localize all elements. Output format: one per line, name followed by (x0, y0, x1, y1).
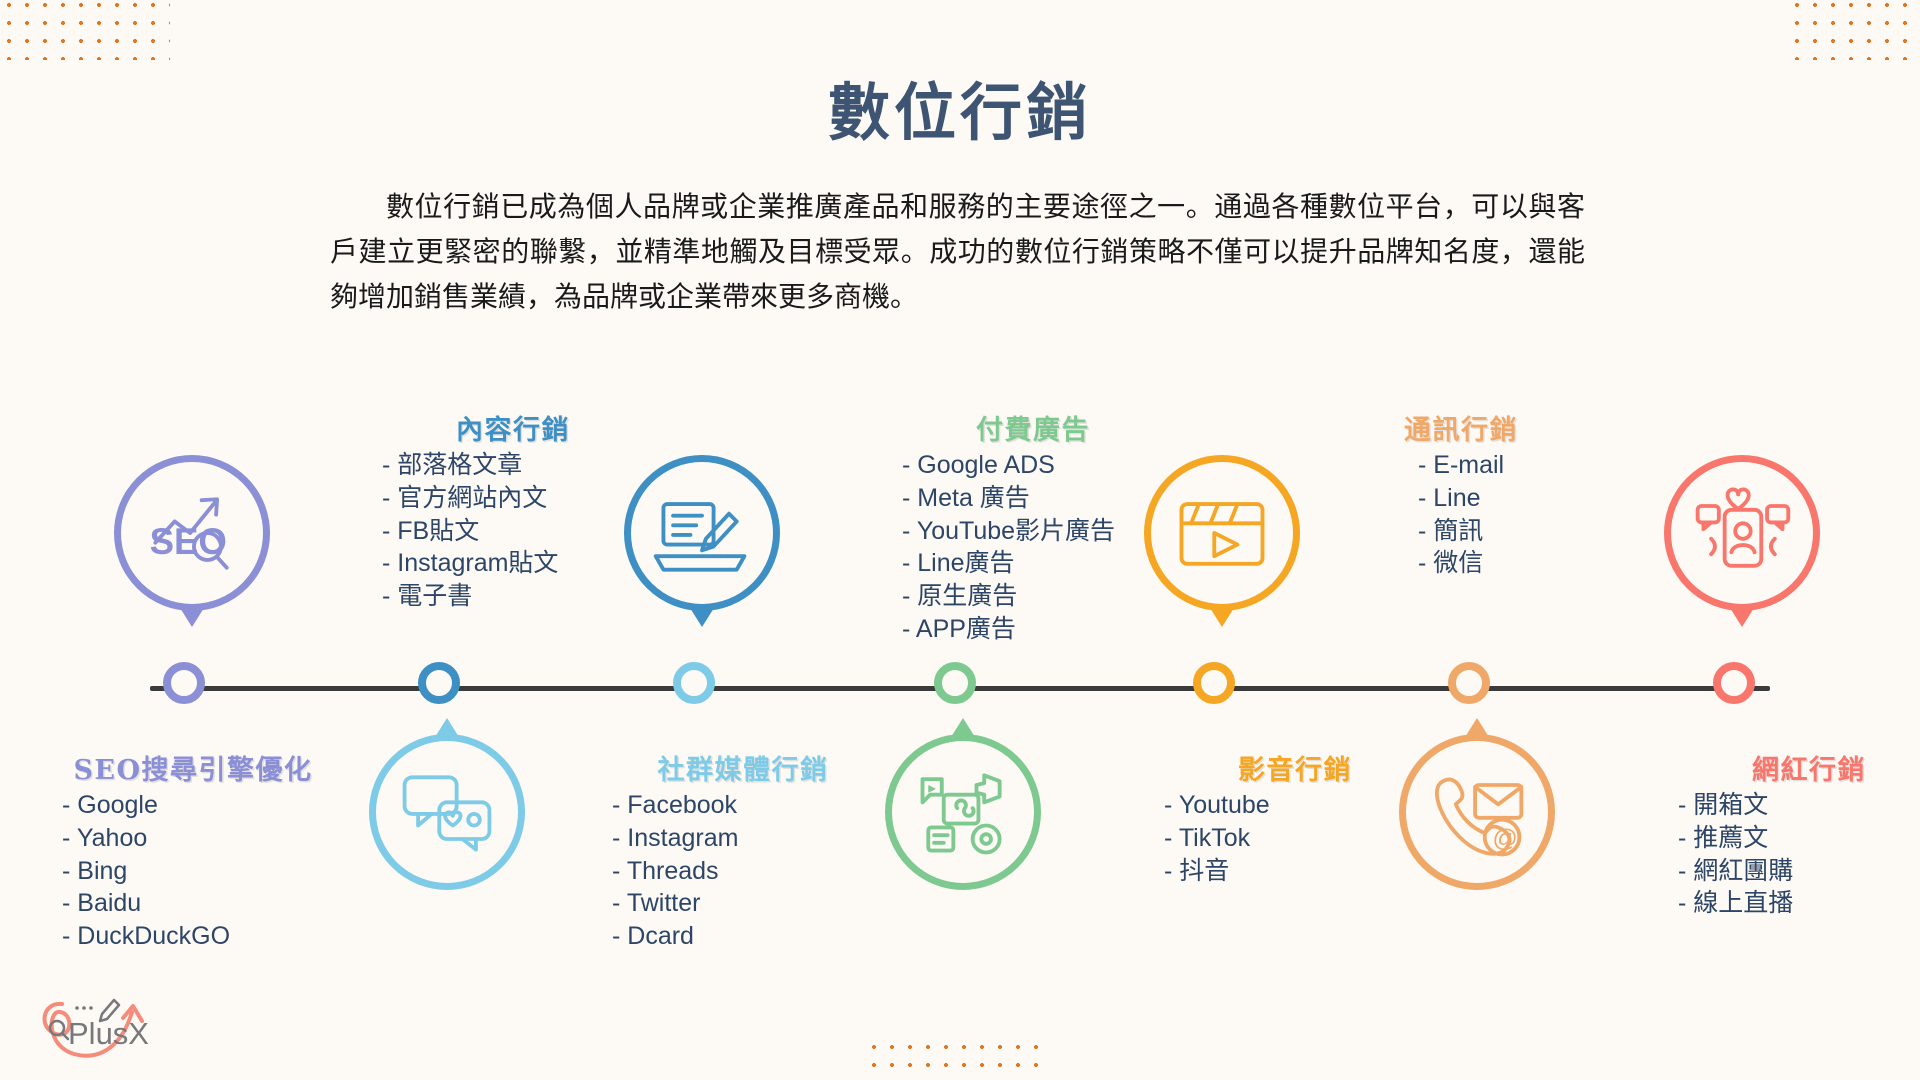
list-item: - 部落格文章 (382, 451, 658, 480)
list-item: - Meta 廣告 (902, 484, 1178, 513)
list-item: - Facebook (612, 791, 888, 820)
list-item: - TikTok (1164, 824, 1440, 853)
block-list-social: - Facebook- Instagram- Threads- Twitter-… (598, 791, 888, 951)
list-item: - 推薦文 (1678, 824, 1920, 853)
list-item: - E-mail (1418, 451, 1694, 480)
timeline-node-social[interactable] (673, 662, 715, 704)
block-heading-influencer: 網紅行銷 (1664, 748, 1920, 787)
timeline-node-seo[interactable] (163, 662, 205, 704)
timeline-node-influencer[interactable] (1713, 662, 1755, 704)
list-item: - YouTube影片廣告 (902, 517, 1178, 546)
timeline-block-content: 內容行銷- 部落格文章- 官方網站內文- FB貼文- Instagram貼文- … (368, 408, 658, 615)
block-list-video: - Youtube- TikTok- 抖音 (1150, 791, 1440, 885)
phone-person-hearts-icon (1688, 479, 1796, 587)
timeline-block-social: 社群媒體行銷- Facebook- Instagram- Threads- Tw… (598, 748, 888, 955)
list-item: - Google (62, 791, 338, 820)
list-item: - Google ADS (902, 451, 1178, 480)
timeline-block-seo: SEO搜尋引擎優化- Google- Yahoo- Bing- Baidu- D… (48, 748, 338, 955)
list-item: - Bing (62, 857, 338, 886)
block-list-paid-ads: - Google ADS- Meta 廣告- YouTube影片廣告- Line… (888, 451, 1178, 644)
list-item: - 線上直播 (1678, 889, 1920, 918)
list-item: - Instagram (612, 824, 888, 853)
infographic-canvas: 數位行銷 數位行銷已成為個人品牌或企業推廣產品和服務的主要途徑之一。通過各種數位… (0, 0, 1920, 1080)
block-list-influencer: - 開箱文- 推薦文- 網紅團購- 線上直播 (1664, 791, 1920, 918)
list-item: - 電子書 (382, 582, 658, 611)
block-list-content: - 部落格文章- 官方網站內文- FB貼文- Instagram貼文- 電子書 (368, 451, 658, 611)
plusx-wordmark: PlusX (68, 1016, 149, 1052)
block-heading-content: 內容行銷 (368, 408, 658, 447)
laptop-writing-icon (648, 479, 756, 587)
list-item: - FB貼文 (382, 517, 658, 546)
chat-bubbles-heart-icon (393, 758, 501, 866)
list-item: - 原生廣告 (902, 582, 1178, 611)
block-list-seo: - Google- Yahoo- Bing- Baidu- DuckDuckGO (48, 791, 338, 951)
block-heading-video: 影音行銷 (1150, 748, 1440, 787)
pin-bulb-paid-ads (885, 734, 1041, 890)
list-item: - Twitter (612, 889, 888, 918)
timeline-block-messaging: 通訊行銷- E-mail- Line- 簡訊- 微信 (1404, 408, 1694, 582)
page-title: 數位行銷 (0, 62, 1920, 152)
list-item: - Baidu (62, 889, 338, 918)
timeline-block-influencer: 網紅行銷- 開箱文- 推薦文- 網紅團購- 線上直播 (1664, 748, 1920, 922)
list-item: - Line廣告 (902, 549, 1178, 578)
timeline-node-paid-ads[interactable] (934, 662, 976, 704)
block-list-messaging: - E-mail- Line- 簡訊- 微信 (1404, 451, 1694, 578)
timeline-pin-social[interactable] (369, 718, 525, 890)
block-heading-messaging: 通訊行銷 (1404, 408, 1694, 447)
dot-pattern-bottom-center-icon (865, 1038, 1050, 1080)
seo-chart-magnifier-icon: SEO (138, 479, 246, 587)
block-heading-social: 社群媒體行銷 (598, 748, 888, 787)
svg-text:@: @ (1492, 825, 1517, 853)
list-item: - 開箱文 (1678, 791, 1920, 820)
plusx-logo: PlusX (22, 988, 172, 1066)
list-item: - APP廣告 (902, 615, 1178, 644)
list-item: - Dcard (612, 922, 888, 951)
timeline-block-video: 影音行銷- Youtube- TikTok- 抖音 (1150, 748, 1440, 889)
intro-paragraph: 數位行銷已成為個人品牌或企業推廣產品和服務的主要途徑之一。通過各種數位平台，可以… (330, 185, 1585, 319)
list-item: - Threads (612, 857, 888, 886)
list-item: - 官方網站內文 (382, 484, 658, 513)
timeline-pin-seo[interactable]: SEO (114, 455, 270, 627)
list-item: - Yahoo (62, 824, 338, 853)
timeline-node-content[interactable] (418, 662, 460, 704)
list-item: - Line (1418, 484, 1694, 513)
list-item: - Instagram貼文 (382, 549, 658, 578)
block-heading-seo: SEO搜尋引擎優化 (48, 748, 338, 787)
pin-bulb-social (369, 734, 525, 890)
list-item: - 簡訊 (1418, 517, 1694, 546)
list-item: - 抖音 (1164, 857, 1440, 886)
block-heading-paid-ads: 付費廣告 (888, 408, 1178, 447)
video-play-clapper-icon (1168, 479, 1276, 587)
list-item: - 網紅團購 (1678, 857, 1920, 886)
timeline-block-paid-ads: 付費廣告- Google ADS- Meta 廣告- YouTube影片廣告- … (888, 408, 1178, 648)
list-item: - 微信 (1418, 549, 1694, 578)
dot-pattern-top-left-icon (0, 0, 170, 60)
pin-bulb-seo: SEO (114, 455, 270, 611)
dot-pattern-top-right-icon (1788, 0, 1920, 60)
timeline-node-video[interactable] (1193, 662, 1235, 704)
timeline-pin-paid-ads[interactable] (885, 718, 1041, 890)
list-item: - Youtube (1164, 791, 1440, 820)
timeline-node-messaging[interactable] (1448, 662, 1490, 704)
list-item: - DuckDuckGO (62, 922, 338, 951)
ad-network-megaphone-icon (909, 758, 1017, 866)
